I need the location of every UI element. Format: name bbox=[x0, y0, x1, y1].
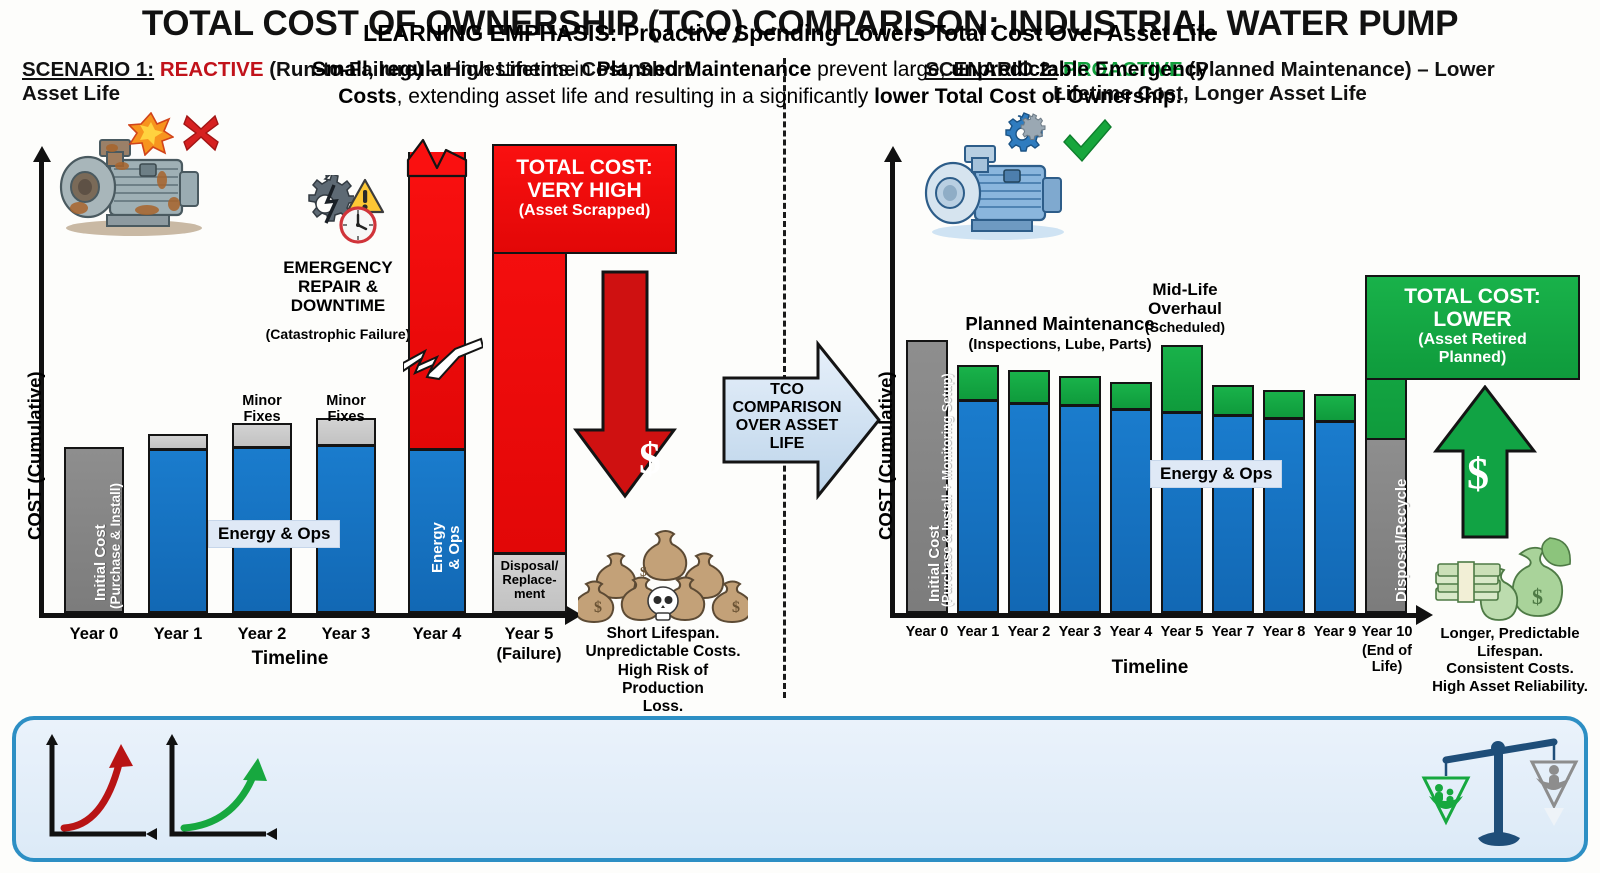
left-total-cost-box: TOTAL COST: VERY HIGH (Asset Scrapped) bbox=[492, 144, 677, 254]
left-bar-year2-fixes bbox=[232, 423, 292, 448]
right-bar-year4-energy bbox=[1110, 409, 1152, 613]
right-bar-year8-maint bbox=[1263, 390, 1305, 419]
emergency-callout-sub: (Catastrophic Failure) bbox=[253, 327, 423, 343]
right-xlabel-2: Year 2 bbox=[1001, 625, 1057, 641]
left-outcome-text: Short Lifespan. Unpredictable Costs. Hig… bbox=[580, 625, 746, 716]
clock-icon bbox=[338, 205, 378, 245]
gears-icon bbox=[1000, 112, 1054, 154]
right-xlabel-1: Year 1 bbox=[950, 625, 1006, 641]
left-total-cost-line1: TOTAL COST: bbox=[494, 156, 675, 179]
right-disposal-label: Disposal/Recycle bbox=[1393, 479, 1410, 602]
emergency-callout-title: EMERGENCY REPAIR & DOWNTIME bbox=[268, 258, 408, 315]
left-bar-year4-energy: Energy& Ops bbox=[408, 449, 466, 613]
green-check-icon bbox=[1060, 118, 1114, 166]
left-bar-year1-fixes bbox=[148, 434, 208, 450]
left-bar-year5-disposal: Disposal/ Replace- ment bbox=[492, 553, 567, 613]
svg-text:$: $ bbox=[732, 599, 740, 616]
left-energy-ops-chip: Energy & Ops bbox=[208, 520, 340, 548]
clean-pump-icon bbox=[918, 128, 1078, 243]
svg-text:$: $ bbox=[594, 599, 602, 616]
break-zigzag-icon bbox=[403, 335, 483, 381]
left-y-axis-label: COST (Cumulative) bbox=[24, 371, 46, 540]
right-bar-year7-energy bbox=[1212, 415, 1254, 613]
tco-arrow-text: TCO COMPARISON OVER ASSET LIFE bbox=[722, 381, 852, 453]
right-initial-cost-line2: (Purchase & Install + Monitoring Setup) bbox=[940, 373, 954, 607]
right-xlabel-0: Year 0 bbox=[899, 625, 955, 641]
scenario1-label: SCENARIO 1: bbox=[22, 58, 154, 81]
banner-l1c: Planned Maintenance bbox=[597, 58, 812, 81]
banner-l1b: investments in bbox=[451, 58, 597, 81]
right-xlabel-5: Year 5 bbox=[1154, 625, 1210, 641]
left-x-axis-title: Timeline bbox=[200, 648, 380, 670]
right-x-axis-title: Timeline bbox=[1060, 657, 1240, 679]
banner-body: Small, regular investments in Planned Ma… bbox=[150, 56, 1370, 111]
minor-fixes-label-year2: Minor Fixes bbox=[227, 394, 297, 425]
red-x-icon bbox=[180, 112, 222, 154]
left-energy-ops-inbar: Energy& Ops bbox=[430, 522, 464, 573]
svg-text:$: $ bbox=[640, 565, 647, 580]
right-bar-year3-energy bbox=[1059, 405, 1101, 613]
right-x-axis bbox=[890, 613, 1418, 618]
right-x-axis-arrow bbox=[1416, 605, 1433, 625]
right-bar-year4-maint bbox=[1110, 382, 1152, 410]
right-bar-year8-energy bbox=[1263, 418, 1305, 613]
left-initial-cost-line1: Initial Cost bbox=[92, 524, 109, 601]
right-xlabel-10: Year 10 bbox=[1356, 625, 1418, 641]
planned-maintenance-sub: (Inspections, Lube, Parts) bbox=[940, 337, 1180, 354]
right-outcome-text: Longer, Predictable Lifespan. Consistent… bbox=[1424, 625, 1596, 696]
right-xlabel-4: Year 4 bbox=[1103, 625, 1159, 641]
banner-l1d: prevent large, bbox=[811, 58, 951, 81]
left-dollar-glyph: $ bbox=[639, 433, 661, 484]
left-x-axis bbox=[39, 613, 567, 618]
right-xlabel-9: Year 9 bbox=[1307, 625, 1363, 641]
right-total-cost-line3: (Asset Retired Planned) bbox=[1367, 331, 1578, 367]
right-xlabel-8: Year 8 bbox=[1256, 625, 1312, 641]
right-bar-year1-maint bbox=[957, 365, 999, 401]
right-total-cost-line1: TOTAL COST: bbox=[1367, 285, 1578, 308]
left-bar-year4-emergency bbox=[408, 152, 466, 450]
right-bar-year2-energy bbox=[1008, 403, 1050, 613]
right-bar-year5-overhaul bbox=[1161, 345, 1203, 413]
left-xlabel-1: Year 1 bbox=[146, 625, 210, 643]
right-xlabel-10-sub: (End of Life) bbox=[1356, 644, 1418, 676]
left-total-cost-line3: (Asset Scrapped) bbox=[494, 202, 675, 220]
left-xlabel-4: Year 4 bbox=[405, 625, 469, 643]
right-bar-year9-energy bbox=[1314, 421, 1356, 613]
left-bar-year1-energy bbox=[148, 449, 208, 613]
left-total-cost-line2: VERY HIGH bbox=[494, 179, 675, 202]
banner-l2c: lower Total Cost of Ownership. bbox=[874, 85, 1182, 108]
right-bar-year2-maint bbox=[1008, 370, 1050, 404]
explosion-icon bbox=[128, 112, 174, 156]
right-xlabel-3: Year 3 bbox=[1052, 625, 1108, 641]
jagged-bar-top-icon bbox=[406, 138, 468, 178]
right-bar-year0-initial: Initial Cost (Purchase & Install + Monit… bbox=[906, 340, 948, 613]
balance-scale-icon bbox=[1420, 726, 1580, 854]
left-xlabel-0: Year 0 bbox=[62, 625, 126, 643]
left-xlabel-3: Year 3 bbox=[314, 625, 378, 643]
banner-title-prefix: LEARNING EMPHASIS: bbox=[363, 20, 624, 46]
banner-title-rest: Proactive Spending Lowers Total Cost Ove… bbox=[624, 20, 1217, 46]
cost-down-arrow-icon bbox=[570, 270, 680, 500]
left-bar-year0-initial: Initial Cost (Purchase & Install) bbox=[64, 447, 124, 613]
right-xlabel-7: Year 7 bbox=[1205, 625, 1261, 641]
right-bar-year9-maint bbox=[1314, 394, 1356, 422]
right-bar-year3-maint bbox=[1059, 376, 1101, 406]
left-initial-cost-line2: (Purchase & Install) bbox=[108, 483, 123, 609]
banner-l1e: unpredictable Emergency bbox=[951, 58, 1208, 81]
right-bar-year10-disposal: Disposal/Recycle bbox=[1365, 438, 1407, 613]
left-xlabel-2: Year 2 bbox=[230, 625, 294, 643]
midlife-overhaul-title: Mid-Life Overhaul bbox=[1120, 280, 1250, 318]
left-xlabel-5: Year 5 bbox=[497, 625, 561, 643]
banner-l1a: Small, regular bbox=[312, 58, 451, 81]
right-total-cost-line2: LOWER bbox=[1367, 308, 1578, 331]
banner-title: LEARNING EMPHASIS: Proactive Spending Lo… bbox=[170, 20, 1410, 47]
minor-fixes-label-year3: Minor Fixes bbox=[311, 394, 381, 425]
right-bar-year5-energy bbox=[1161, 412, 1203, 613]
rising-green-curve-icon bbox=[158, 730, 283, 848]
right-bar-year7-maint bbox=[1212, 385, 1254, 416]
infographic-root: TOTAL COST OF OWNERSHIP (TCO) COMPARISON… bbox=[0, 0, 1600, 873]
right-y-axis-label: COST (Cumulative) bbox=[875, 371, 897, 540]
right-energy-ops-chip: Energy & Ops bbox=[1150, 460, 1282, 488]
left-xlabel-5-sub: (Failure) bbox=[489, 645, 569, 663]
rising-red-curve-icon bbox=[38, 730, 163, 848]
left-disposal-label: Disposal/ Replace- ment bbox=[493, 559, 566, 601]
money-bags-skull-icon: $ $ $ bbox=[578, 528, 748, 623]
right-dollar-glyph: $ bbox=[1467, 448, 1489, 499]
banner-l2a: Costs bbox=[338, 85, 396, 108]
right-bar-year1-energy bbox=[957, 400, 999, 613]
banner-l2b: , extending asset life and resulting in … bbox=[397, 85, 874, 108]
midlife-overhaul-sub: (Scheduled) bbox=[1120, 320, 1250, 336]
right-total-cost-box: TOTAL COST: LOWER (Asset Retired Planned… bbox=[1365, 275, 1580, 380]
svg-text:$: $ bbox=[1532, 584, 1543, 609]
money-stack-icon: $ bbox=[1432, 532, 1572, 624]
